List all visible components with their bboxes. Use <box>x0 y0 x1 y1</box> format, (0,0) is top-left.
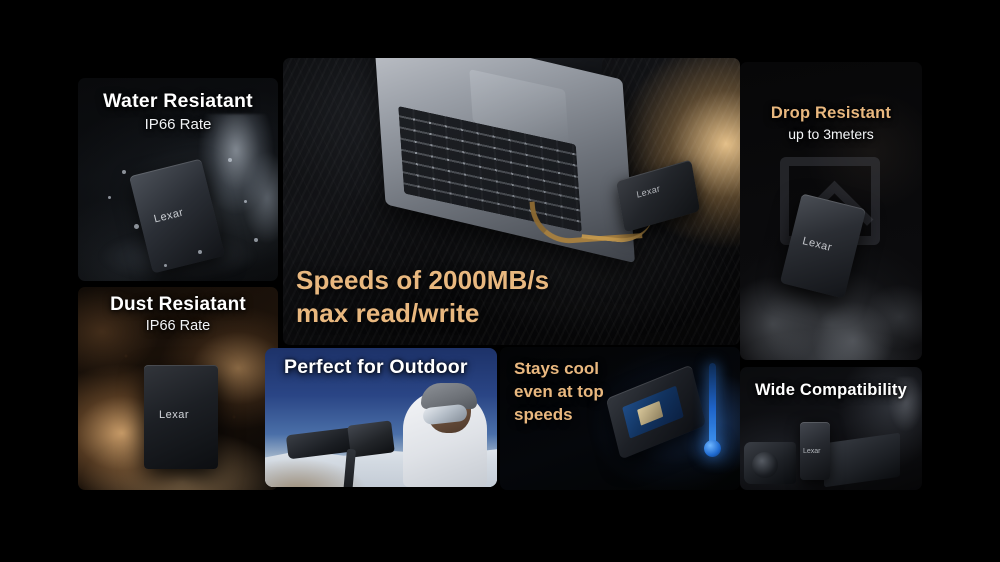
speed-headline-line1: Speeds of 2000MB/s <box>296 264 596 297</box>
compat-caption: Wide Compatibility <box>740 381 922 400</box>
thermometer-icon <box>709 363 716 445</box>
drop-heading: Drop Resistant <box>740 104 922 123</box>
camera-gimbal-rig <box>287 423 405 463</box>
laptop-device <box>824 433 900 488</box>
speed-headline-line2: max read/write <box>296 297 596 330</box>
lexar-logo: Lexar <box>636 183 661 200</box>
feature-collage: Lexar Water Resiatant IP66 Rate Lexar Du… <box>0 0 1000 562</box>
ssd-device-compat: Lexar <box>800 422 830 480</box>
lexar-logo: Lexar <box>159 409 189 421</box>
dust-heading: Dust Resiatant <box>78 294 278 316</box>
dust-caption: Dust Resiatant IP66 Rate <box>78 294 278 334</box>
outdoor-caption: Perfect for Outdoor <box>272 356 490 379</box>
drop-caption: Drop Resistant up to 3meters <box>740 104 922 142</box>
water-heading: Water Resiatant <box>78 90 278 113</box>
cool-line3: speeds <box>514 404 664 427</box>
ssd-device-dust: Lexar <box>144 365 218 469</box>
lexar-logo: Lexar <box>803 448 821 455</box>
speed-caption: Speeds of 2000MB/s max read/write <box>296 264 596 331</box>
camera-device <box>744 442 796 484</box>
lexar-logo: Lexar <box>801 235 833 254</box>
cool-line1: Stays cool <box>514 358 664 381</box>
cool-line2: even at top <box>514 381 664 404</box>
compat-heading: Wide Compatibility <box>740 381 922 400</box>
cool-caption: Stays cool even at top speeds <box>514 358 664 427</box>
drop-subheading: up to 3meters <box>740 126 922 142</box>
dust-subheading: IP66 Rate <box>78 318 278 334</box>
water-subheading: IP66 Rate <box>78 116 278 133</box>
outdoor-heading: Perfect for Outdoor <box>272 356 490 379</box>
water-caption: Water Resiatant IP66 Rate <box>78 90 278 133</box>
